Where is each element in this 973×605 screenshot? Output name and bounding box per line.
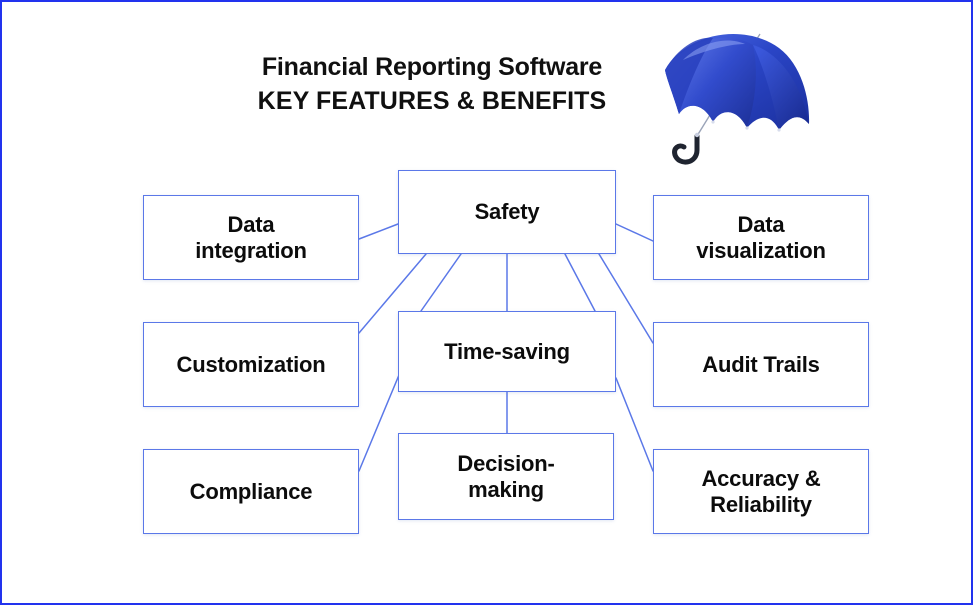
node-label: Data visualization (690, 212, 831, 263)
node-label: Time-saving (438, 339, 576, 365)
umbrella-icon (657, 28, 817, 178)
node-data-integration[interactable]: Data integration (143, 195, 359, 280)
connector-timesaving-accuracy (616, 378, 653, 471)
connector-safety-timesaving-right (565, 254, 595, 311)
node-safety[interactable]: Safety (398, 170, 616, 254)
umbrella-rib-tip (745, 126, 748, 129)
page-title: Financial Reporting Software KEY FEATURE… (152, 52, 712, 120)
connector-safety-data-integration (359, 224, 398, 239)
node-label: Decision- making (451, 451, 560, 502)
node-label: Customization (171, 352, 332, 378)
umbrella-rib-tip (777, 128, 780, 131)
umbrella-rib-tip (711, 120, 714, 123)
umbrella-handle (675, 136, 697, 162)
node-label: Accuracy & Reliability (695, 466, 826, 517)
node-label: Compliance (184, 479, 319, 505)
node-audit-trails[interactable]: Audit Trails (653, 322, 869, 407)
connector-safety-timesaving-left (421, 254, 461, 311)
node-data-visualization[interactable]: Data visualization (653, 195, 869, 280)
diagram-canvas: Financial Reporting Software KEY FEATURE… (0, 0, 973, 605)
connector-safety-data-visualization (616, 224, 653, 241)
node-compliance[interactable]: Compliance (143, 449, 359, 534)
node-accuracy-reliability[interactable]: Accuracy & Reliability (653, 449, 869, 534)
node-label: Data integration (189, 212, 312, 263)
node-customization[interactable]: Customization (143, 322, 359, 407)
title-line-1: Financial Reporting Software (152, 52, 712, 83)
title-line-2: KEY FEATURES & BENEFITS (152, 83, 712, 119)
node-label: Audit Trails (696, 352, 825, 378)
umbrella-collar (695, 133, 699, 137)
connector-timesaving-compliance (359, 375, 399, 471)
node-label: Safety (469, 199, 546, 225)
node-time-saving[interactable]: Time-saving (398, 311, 616, 392)
node-decision-making[interactable]: Decision- making (398, 433, 614, 520)
